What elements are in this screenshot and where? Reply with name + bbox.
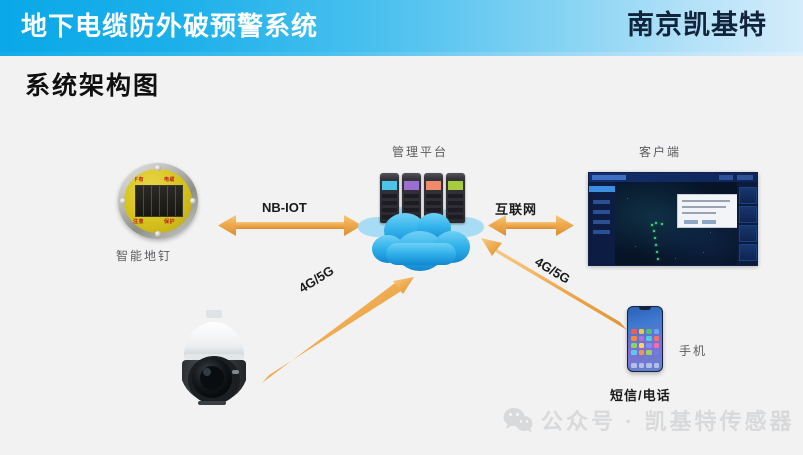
link-label-nbiot: NB-IOT xyxy=(262,200,307,215)
watermark: 公众号 · 凯基特传感器 xyxy=(503,404,795,436)
slide-canvas: 地下电缆防外破预警系统 南京凯基特 系统架构图 下有 电缆 注意 保护 智能地钉… xyxy=(0,0,803,455)
arrow-camera-to-cloud xyxy=(262,277,414,383)
cloud-icon xyxy=(372,211,472,273)
arrow-phone-to-cloud xyxy=(481,238,627,330)
arrow-nail-to-cloud xyxy=(218,215,362,236)
watermark-text: 公众号 · 凯基特传感器 xyxy=(541,404,795,436)
wechat-icon xyxy=(503,407,533,433)
link-label-internet: 互联网 xyxy=(495,199,537,218)
arrow-cloud-to-client xyxy=(488,215,574,236)
